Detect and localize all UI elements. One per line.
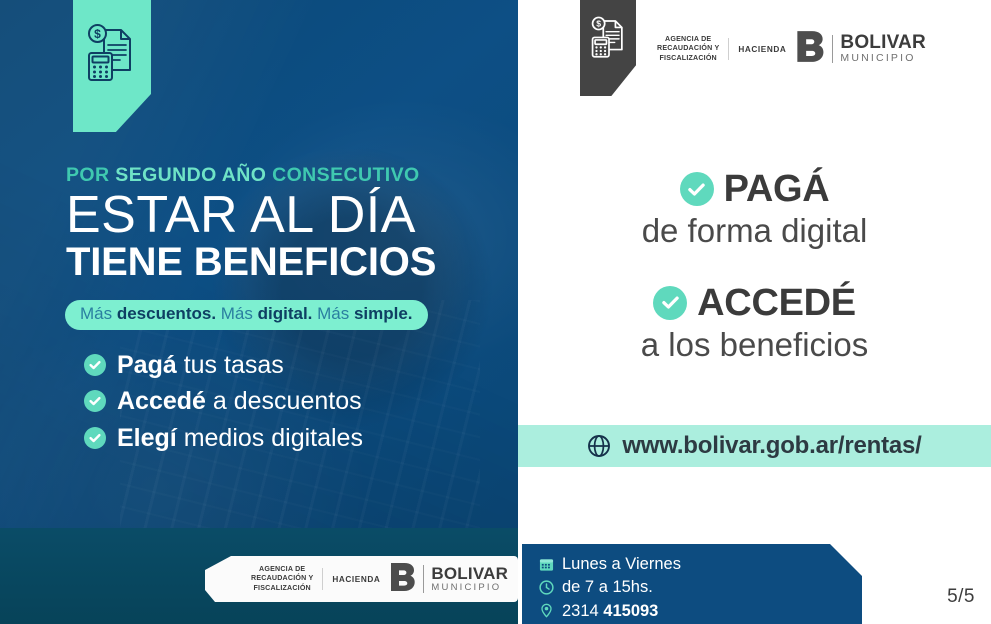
list-item: Accedé a descuentos: [84, 388, 363, 414]
bullet-rest-0: tus tasas: [177, 351, 284, 379]
claims-spacer: [518, 250, 991, 284]
brand-lockup: AGENCIA DE RECAUDACIÓN Y FISCALIZACIÓN H…: [251, 562, 508, 597]
lockup-divider-2: [423, 565, 424, 593]
check-circle-icon: [653, 286, 687, 320]
contact-days: Lunes a Viernes: [562, 553, 681, 575]
check-circle-icon: [84, 427, 106, 449]
list-item: Elegí medios digitales: [84, 425, 363, 451]
claims-block: PAGÁ de forma digital ACCEDÉ a los benef…: [518, 170, 991, 364]
claim-subtitle: de forma digital: [518, 212, 991, 250]
claim-row: ACCEDÉ: [518, 284, 991, 322]
pill-text-3: Más: [312, 304, 354, 323]
page-indicator: 5/5: [947, 586, 975, 608]
header-brand-lockup: AGENCIA DE RECAUDACIÓN Y FISCALIZACIÓN H…: [657, 30, 926, 68]
b-monogram-icon: [389, 562, 416, 597]
brand-subtitle: MUNICIPIO: [431, 582, 508, 594]
footer-logo-plate: AGENCIA DE RECAUDACIÓN Y FISCALIZACIÓN H…: [205, 556, 518, 602]
pill-text-2: Más: [216, 304, 258, 323]
website-url[interactable]: www.bolivar.gob.ar/rentas/: [622, 432, 921, 460]
slide-canvas: $: [0, 0, 991, 624]
pill-bold-2: digital.: [258, 304, 313, 323]
brand-text: BOLIVAR MUNICIPIO: [840, 33, 926, 65]
b-monogram-icon: [795, 30, 825, 68]
invoice-calculator-icon: $: [84, 20, 140, 87]
check-circle-icon: [84, 354, 106, 376]
kicker-post: CONSECUTIVO: [266, 164, 419, 186]
contact-phone: 2314 415093: [562, 600, 658, 622]
bullet-bold-2: Elegí: [117, 424, 177, 452]
headline-kicker: POR SEGUNDO AÑO CONSECUTIVO: [66, 166, 486, 186]
left-panel: $: [0, 0, 518, 624]
claim-subtitle: a los beneficios: [518, 326, 991, 364]
pill-bold-1: descuentos.: [117, 304, 216, 323]
hacienda-label: HACIENDA: [332, 575, 380, 584]
list-item-label: Elegí medios digitales: [117, 425, 363, 451]
invoice-calculator-icon: $: [589, 13, 629, 64]
lockup-divider: [322, 568, 323, 590]
globe-icon: [587, 434, 611, 458]
claim-title: PAGÁ: [724, 170, 830, 208]
right-panel: $: [518, 0, 991, 624]
kicker-mid: SEGUNDO AÑO: [115, 164, 266, 186]
pill-text-1: Más: [80, 304, 117, 323]
benefits-pill: Más descuentos. Más digital. Más simple.: [65, 300, 428, 330]
contact-row-hours: de 7 a 15hs.: [538, 576, 862, 598]
brand-name: BOLIVAR: [431, 565, 508, 582]
clock-icon: [538, 580, 555, 595]
lockup-divider-2: [832, 35, 833, 63]
claim-row: PAGÁ: [518, 170, 991, 208]
agency-line-3: FISCALIZACIÓN: [657, 54, 719, 64]
lockup-divider: [728, 38, 729, 60]
bullet-rest-2: medios digitales: [177, 424, 363, 452]
check-circle-icon: [680, 172, 714, 206]
headline-light: ESTAR AL DÍA: [66, 190, 486, 241]
brand-text: BOLIVAR MUNICIPIO: [431, 565, 508, 594]
website-url-band[interactable]: www.bolivar.gob.ar/rentas/: [518, 425, 991, 467]
agency-name: AGENCIA DE RECAUDACIÓN Y FISCALIZACIÓN: [657, 35, 719, 64]
contact-row-phone: 2314 415093: [538, 600, 862, 622]
dark-tab-shape: $: [580, 0, 636, 96]
contact-hours: de 7 a 15hs.: [562, 576, 653, 598]
contact-info-box: Lunes a Viernes de 7 a 15hs. 2314 415093: [522, 544, 862, 624]
benefits-list: Pagá tus tasas Accedé a descuentos Elegí…: [84, 352, 363, 461]
bullet-bold-0: Pagá: [117, 351, 177, 379]
phone-prefix: 2314: [562, 602, 603, 620]
svg-text:$: $: [596, 19, 601, 29]
check-circle-icon: [84, 390, 106, 412]
list-item-label: Accedé a descuentos: [117, 388, 362, 414]
agency-line-2: RECAUDACIÓN Y: [251, 574, 313, 584]
brand-name: BOLIVAR: [840, 33, 926, 52]
claim-title: ACCEDÉ: [697, 284, 856, 322]
kicker-pre: POR: [66, 164, 115, 186]
agency-name: AGENCIA DE RECAUDACIÓN Y FISCALIZACIÓN: [251, 565, 313, 594]
list-item-label: Pagá tus tasas: [117, 352, 284, 378]
agency-line-3: FISCALIZACIÓN: [251, 584, 313, 594]
bullet-bold-1: Accedé: [117, 387, 206, 415]
headline-block: POR SEGUNDO AÑO CONSECUTIVO ESTAR AL DÍA…: [66, 166, 486, 284]
hacienda-label: HACIENDA: [738, 45, 786, 54]
brand-subtitle: MUNICIPIO: [840, 52, 926, 65]
list-item: Pagá tus tasas: [84, 352, 363, 378]
pin-icon: [538, 603, 555, 618]
agency-line-1: AGENCIA DE: [251, 565, 313, 575]
pill-bold-3: simple.: [354, 304, 413, 323]
svg-text:$: $: [94, 27, 101, 41]
headline-bold: TIENE BENEFICIOS: [66, 242, 486, 284]
phone-number: 415093: [603, 602, 658, 620]
contact-row-days: Lunes a Viernes: [538, 544, 862, 575]
calendar-icon: [538, 557, 555, 572]
bullet-rest-1: a descuentos: [206, 387, 362, 415]
agency-line-1: AGENCIA DE: [657, 35, 719, 45]
agency-line-2: RECAUDACIÓN Y: [657, 44, 719, 54]
